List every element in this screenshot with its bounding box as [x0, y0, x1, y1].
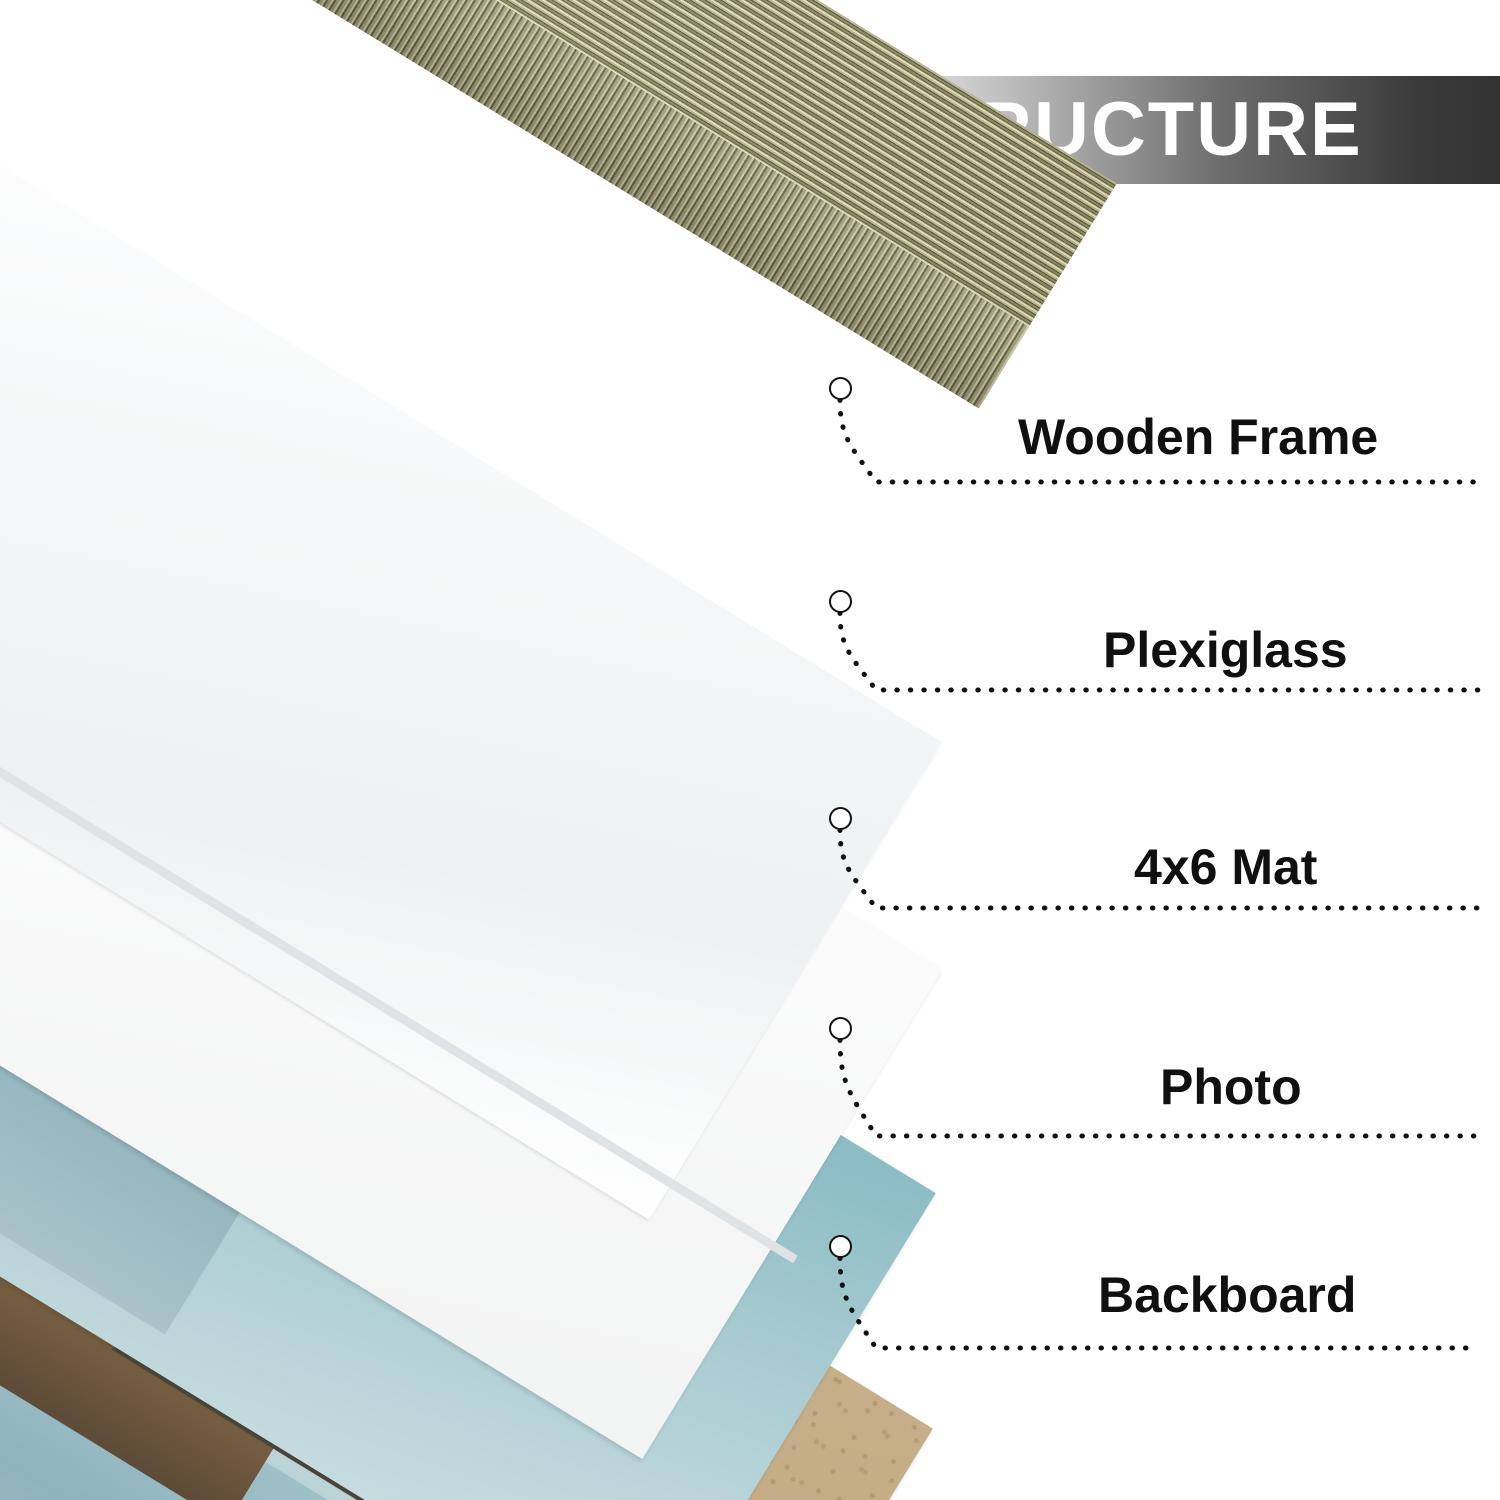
- callout-label-wooden-frame: Wooden Frame: [1018, 412, 1378, 462]
- callout-leader-photo: [826, 1028, 1484, 1142]
- callout-label-plexiglass: Plexiglass: [1103, 625, 1348, 675]
- callout-label-backboard: Backboard: [1098, 1270, 1356, 1320]
- callout-label-mat: 4x6 Mat: [1134, 842, 1317, 892]
- callout-marker-photo: [829, 1017, 852, 1040]
- callout-marker-plexiglass: [829, 590, 852, 613]
- product-infographic: STRUCTURE Wooden FramePlexiglass4x6 MatP…: [0, 0, 1500, 1500]
- callout-marker-backboard: [829, 1235, 852, 1258]
- callout-marker-wooden-frame: [829, 377, 852, 400]
- frame-left-rail: [0, 0, 100, 464]
- callout-label-photo: Photo: [1160, 1062, 1302, 1112]
- callout-marker-mat: [829, 807, 852, 830]
